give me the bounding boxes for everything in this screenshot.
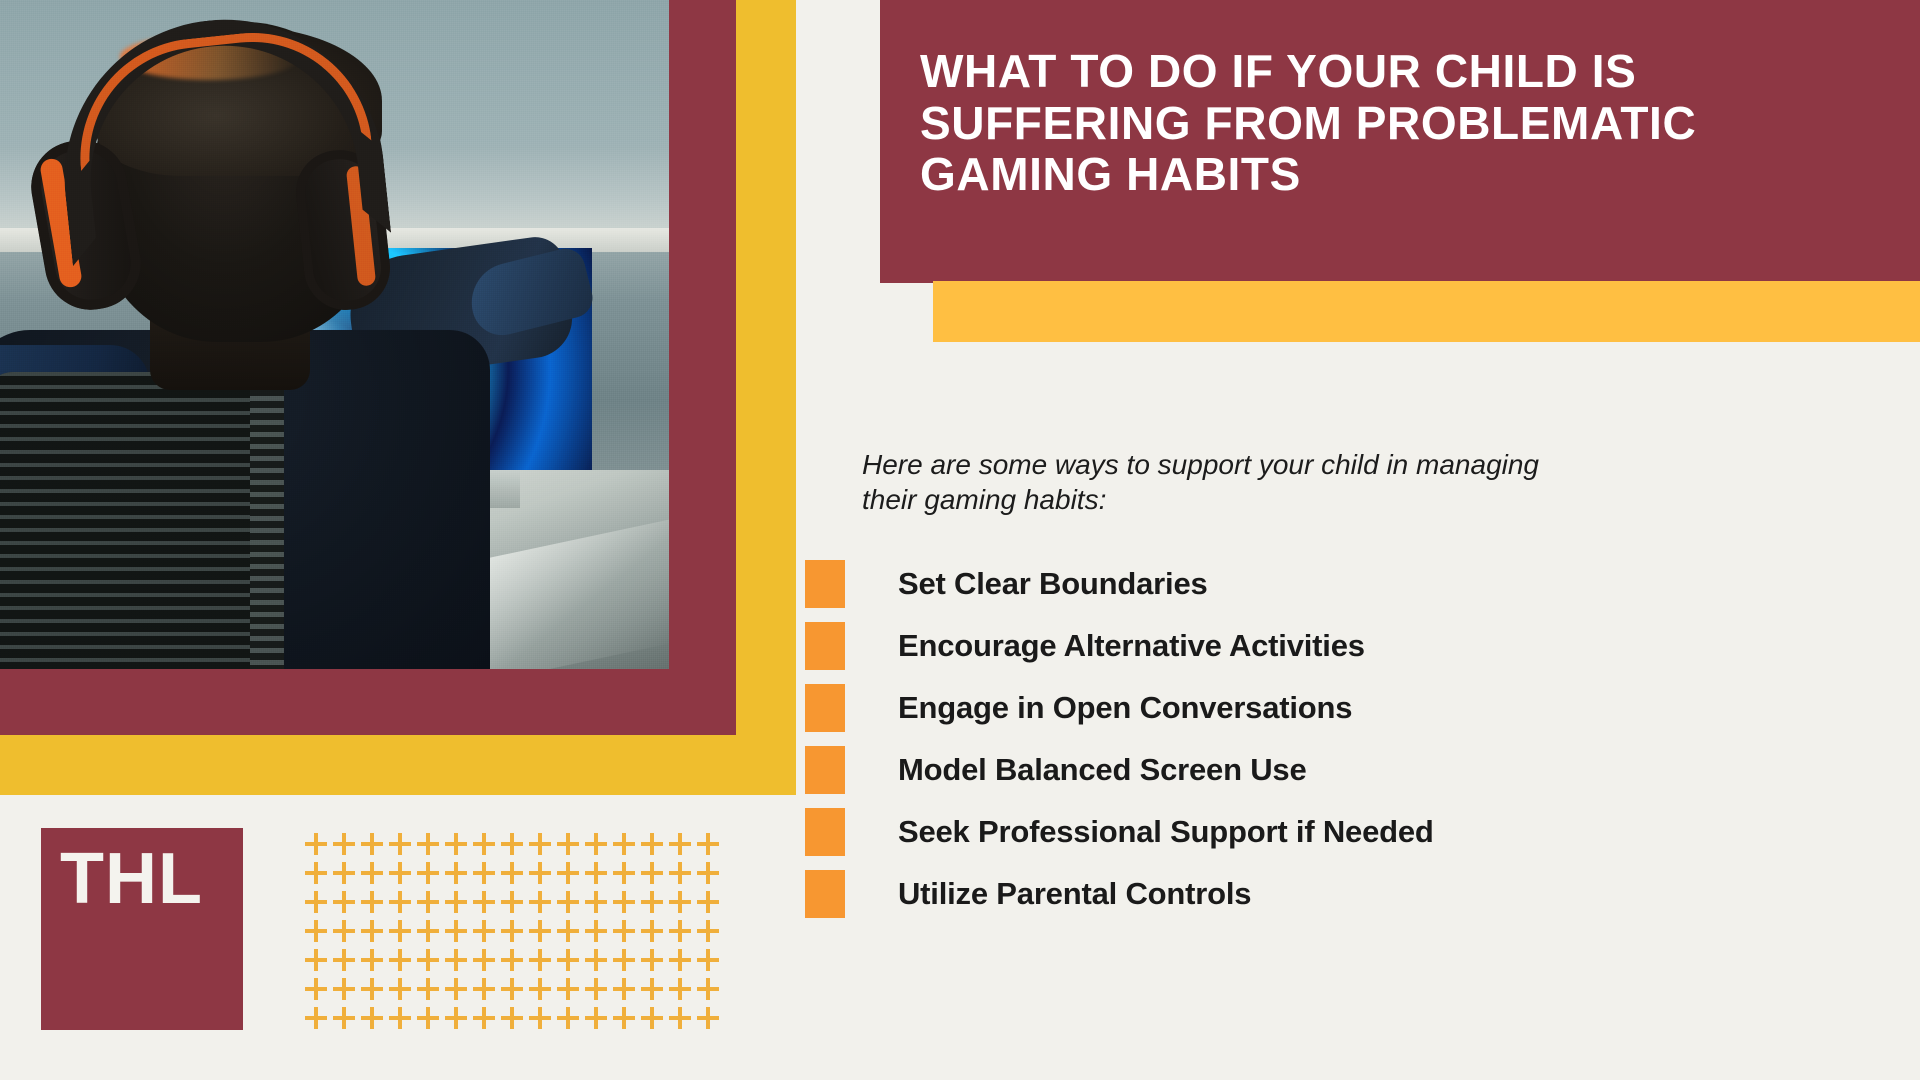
plus-icon — [446, 919, 474, 948]
plus-icon — [642, 977, 670, 1006]
list-item-label: Encourage Alternative Activities — [898, 628, 1365, 664]
header-banner: WHAT TO DO IF YOUR CHILD IS SUFFERING FR… — [880, 0, 1920, 283]
plus-icon — [530, 890, 558, 919]
plus-icon — [334, 890, 362, 919]
plus-icon — [474, 890, 502, 919]
plus-icon — [614, 890, 642, 919]
plus-icon — [362, 890, 390, 919]
plus-icon — [446, 948, 474, 977]
plus-icon — [390, 919, 418, 948]
plus-icon — [530, 1006, 558, 1035]
plus-icon — [530, 832, 558, 861]
plus-icon — [362, 832, 390, 861]
bullet-square-icon — [805, 622, 845, 670]
plus-icon — [334, 861, 362, 890]
plus-icon — [306, 861, 334, 890]
plus-icon — [474, 861, 502, 890]
plus-icon — [390, 890, 418, 919]
bullet-square-icon — [805, 746, 845, 794]
page-title: WHAT TO DO IF YOUR CHILD IS SUFFERING FR… — [920, 46, 1900, 201]
plus-icon — [502, 948, 530, 977]
support-tips-list: Set Clear BoundariesEncourage Alternativ… — [805, 553, 1805, 925]
plus-icon — [558, 1006, 586, 1035]
plus-icon — [474, 1006, 502, 1035]
intro-paragraph: Here are some ways to support your child… — [862, 447, 1562, 518]
plus-icon — [642, 890, 670, 919]
plus-icon — [642, 861, 670, 890]
plus-icon — [698, 919, 726, 948]
plus-icon — [698, 890, 726, 919]
plus-icon — [530, 977, 558, 1006]
plus-icon — [474, 977, 502, 1006]
plus-icon — [390, 861, 418, 890]
plus-icon — [558, 919, 586, 948]
plus-icon — [558, 832, 586, 861]
plus-icon — [418, 890, 446, 919]
plus-icon — [334, 977, 362, 1006]
plus-icon — [670, 861, 698, 890]
plus-icon — [334, 948, 362, 977]
thl-logo-text: THL — [60, 843, 203, 915]
list-item-label: Model Balanced Screen Use — [898, 752, 1307, 788]
plus-icon — [530, 919, 558, 948]
plus-icon — [418, 832, 446, 861]
plus-icon — [362, 948, 390, 977]
list-item: Utilize Parental Controls — [805, 863, 1805, 925]
list-item: Encourage Alternative Activities — [805, 615, 1805, 677]
plus-icon — [586, 977, 614, 1006]
plus-icon — [530, 861, 558, 890]
plus-icon — [698, 948, 726, 977]
plus-icon — [306, 890, 334, 919]
list-item-label: Engage in Open Conversations — [898, 690, 1352, 726]
plus-grid-decoration — [306, 832, 726, 1038]
plus-icon — [334, 1006, 362, 1035]
hero-photo — [0, 0, 669, 669]
plus-icon — [586, 948, 614, 977]
plus-icon — [586, 1006, 614, 1035]
plus-icon — [334, 919, 362, 948]
plus-icon — [642, 1006, 670, 1035]
plus-icon — [586, 890, 614, 919]
list-item: Model Balanced Screen Use — [805, 739, 1805, 801]
plus-icon — [614, 861, 642, 890]
plus-icon — [390, 1006, 418, 1035]
plus-icon — [586, 919, 614, 948]
plus-icon — [418, 948, 446, 977]
plus-icon — [558, 861, 586, 890]
plus-icon — [446, 890, 474, 919]
plus-icon — [334, 832, 362, 861]
plus-icon — [362, 1006, 390, 1035]
list-item: Seek Professional Support if Needed — [805, 801, 1805, 863]
left-visual-composition — [0, 0, 800, 800]
plus-icon — [362, 919, 390, 948]
plus-icon — [362, 977, 390, 1006]
plus-icon — [558, 977, 586, 1006]
plus-icon — [670, 977, 698, 1006]
plus-icon — [390, 977, 418, 1006]
plus-icon — [306, 832, 334, 861]
photo-film-grain — [0, 0, 669, 669]
plus-icon — [502, 890, 530, 919]
plus-icon — [474, 919, 502, 948]
plus-icon — [642, 948, 670, 977]
plus-icon — [362, 861, 390, 890]
plus-icon — [418, 1006, 446, 1035]
plus-icon — [698, 861, 726, 890]
thl-logo-box: THL — [41, 828, 243, 1030]
plus-icon — [586, 832, 614, 861]
list-item-label: Seek Professional Support if Needed — [898, 814, 1434, 850]
plus-icon — [306, 948, 334, 977]
plus-icon — [502, 1006, 530, 1035]
plus-icon — [502, 832, 530, 861]
plus-icon — [306, 1006, 334, 1035]
plus-icon — [418, 919, 446, 948]
plus-icon — [390, 832, 418, 861]
plus-icon — [446, 977, 474, 1006]
plus-icon — [306, 977, 334, 1006]
plus-icon — [306, 919, 334, 948]
plus-icon — [670, 919, 698, 948]
list-item-label: Utilize Parental Controls — [898, 876, 1251, 912]
plus-icon — [418, 861, 446, 890]
plus-icon — [670, 832, 698, 861]
plus-icon — [614, 977, 642, 1006]
bullet-square-icon — [805, 560, 845, 608]
plus-icon — [390, 948, 418, 977]
plus-icon — [670, 948, 698, 977]
header-accent-bar — [933, 281, 1920, 342]
plus-icon — [446, 832, 474, 861]
plus-icon — [530, 948, 558, 977]
plus-icon — [558, 948, 586, 977]
plus-icon — [670, 1006, 698, 1035]
plus-icon — [698, 1006, 726, 1035]
plus-icon — [446, 861, 474, 890]
list-item-label: Set Clear Boundaries — [898, 566, 1208, 602]
plus-icon — [558, 890, 586, 919]
plus-icon — [670, 890, 698, 919]
plus-icon — [642, 919, 670, 948]
bullet-square-icon — [805, 684, 845, 732]
plus-icon — [502, 919, 530, 948]
plus-icon — [614, 832, 642, 861]
bullet-square-icon — [805, 808, 845, 856]
plus-icon — [502, 977, 530, 1006]
plus-icon — [698, 832, 726, 861]
plus-icon — [418, 977, 446, 1006]
list-item: Set Clear Boundaries — [805, 553, 1805, 615]
plus-icon — [446, 1006, 474, 1035]
plus-icon — [502, 861, 530, 890]
plus-icon — [642, 832, 670, 861]
plus-icon — [614, 948, 642, 977]
plus-icon — [614, 919, 642, 948]
plus-icon — [474, 948, 502, 977]
plus-icon — [586, 861, 614, 890]
plus-icon — [698, 977, 726, 1006]
bullet-square-icon — [805, 870, 845, 918]
plus-icon — [474, 832, 502, 861]
plus-icon — [614, 1006, 642, 1035]
list-item: Engage in Open Conversations — [805, 677, 1805, 739]
